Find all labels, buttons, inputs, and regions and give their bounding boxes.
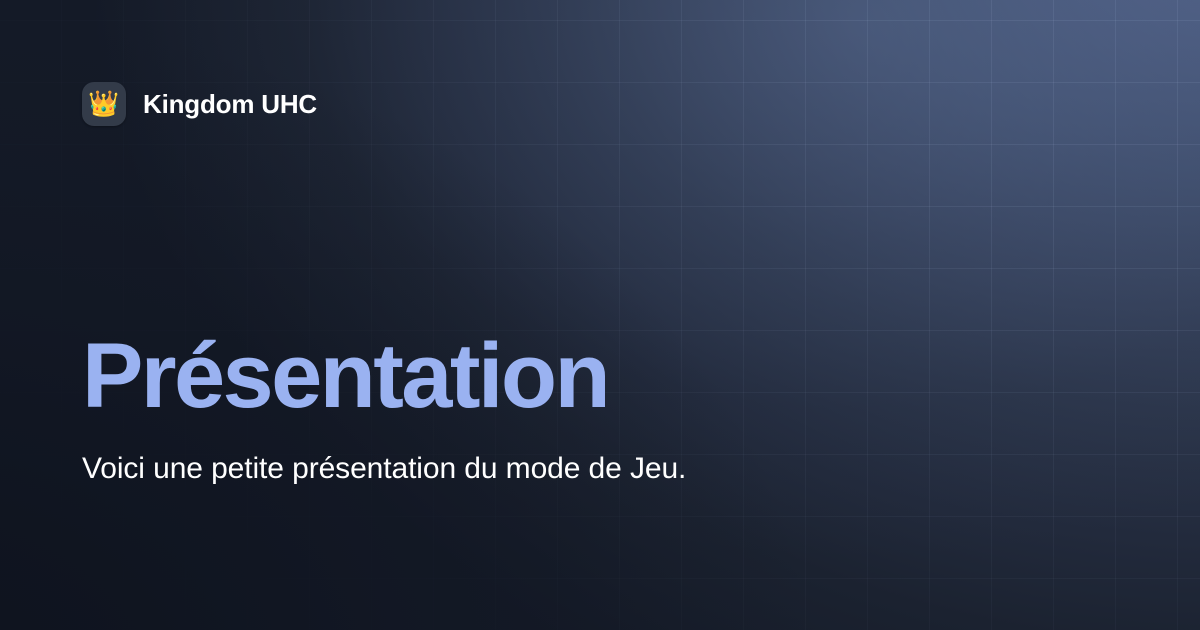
page-title: Présentation [82,330,842,422]
brand-header: 👑 Kingdom UHC [82,82,317,126]
page-subtitle: Voici une petite présentation du mode de… [82,448,788,490]
crown-icon: 👑 [88,92,119,117]
brand-name: Kingdom UHC [143,89,317,120]
card-content: 👑 Kingdom UHC Présentation Voici une pet… [0,0,1200,630]
social-preview-card: 👑 Kingdom UHC Présentation Voici une pet… [0,0,1200,630]
hero-section: Présentation Voici une petite présentati… [82,330,842,490]
brand-logo-badge: 👑 [82,82,126,126]
